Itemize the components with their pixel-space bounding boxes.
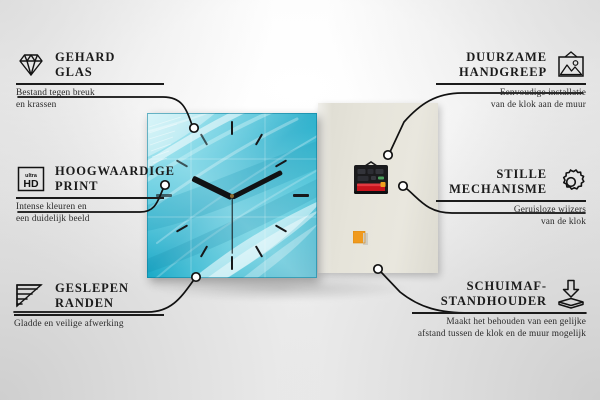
feature-header: STILLE MECHANISME [436,167,586,197]
feature-title: HOOGWAARDIGE PRINT [55,164,175,194]
feature-gehard-glas[interactable]: GEHARD GLAS Bestand tegen breuk en krass… [16,50,164,111]
feature-schuimafstandhouder[interactable]: SCHUIMAF- STANDHOUDER Maakt het behouden… [412,279,586,340]
feature-divider [14,314,164,316]
feature-divider [16,83,164,85]
connector-endpoint-stille-mechanisme [399,182,407,190]
feature-header: GEHARD GLAS [16,50,164,80]
svg-text:HD: HD [23,178,39,190]
feature-header: GESLEPEN RANDEN [14,281,164,311]
connector-endpoint-schuimafstandhouder [374,265,382,273]
infographic-canvas: GEHARD GLAS Bestand tegen breuk en krass… [0,0,600,400]
beveled-edge-icon [14,283,46,309]
feature-divider [436,200,586,202]
feature-title: STILLE MECHANISME [436,167,547,197]
feature-header: DUURZAME HANDGREEP [436,50,586,80]
feature-description: Eenvoudige installatie van de klok aan d… [436,88,586,111]
feature-stille-mechanisme[interactable]: STILLE MECHANISME Geruisloze wijzers van… [436,167,586,228]
feature-title: SCHUIMAF- STANDHOUDER [412,279,547,309]
ultra-hd-icon: ultra HD [16,165,46,193]
feature-title: DUURZAME HANDGREEP [436,50,547,80]
clock-hub [230,194,234,198]
gear-icon [556,168,586,196]
feature-header: ultra HD HOOGWAARDIGE PRINT [16,164,164,194]
feature-description: Intense kleuren en een duidelijk beeld [16,202,164,225]
feature-divider [16,197,164,199]
connector-endpoint-gehard-glas [190,124,198,132]
feature-header: SCHUIMAF- STANDHOUDER [412,279,586,309]
feature-divider [412,312,586,314]
connector-endpoint-geslepen-randen [192,273,200,281]
diamond-icon [16,52,46,78]
feature-title: GESLEPEN RANDEN [55,281,129,311]
feature-divider [436,83,586,85]
connector-endpoint-duurzame-handgreep [384,151,392,159]
feature-hoogwaardige-print[interactable]: ultra HD HOOGWAARDIGE PRINT Intense kleu… [16,164,164,225]
spacer-arrow-icon [556,279,586,309]
feature-description: Maakt het behouden van een gelijke afsta… [412,317,586,340]
feature-description: Bestand tegen breuk en krassen [16,88,164,111]
feature-duurzame-handgreep[interactable]: DUURZAME HANDGREEP Eenvoudige installati… [436,50,586,111]
hanging-picture-icon [556,51,586,79]
feature-title: GEHARD GLAS [55,50,115,80]
feature-description: Gladde en veilige afwerking [14,319,164,331]
feature-geslepen-randen[interactable]: GESLEPEN RANDEN Gladde en veilige afwerk… [14,281,164,331]
feature-description: Geruisloze wijzers van de klok [436,205,586,228]
